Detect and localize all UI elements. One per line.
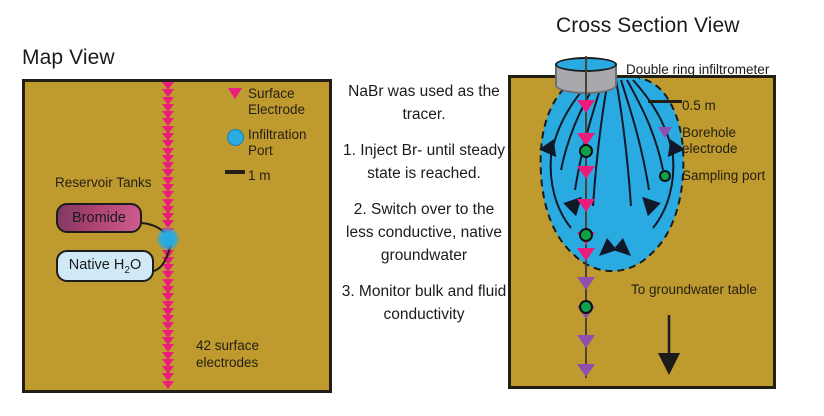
instructions-panel: NaBr was used as the tracer. 1. Inject B… <box>340 80 508 326</box>
borehole-line <box>585 56 587 378</box>
double-ring-infiltrometer-label: Double ring infiltrometer <box>626 62 769 77</box>
to-groundwater-table-label: To groundwater table <box>629 281 759 299</box>
legend-label-sampling-port: Sampling port <box>682 168 765 184</box>
scale-bar-icon <box>648 98 682 103</box>
legend-label-scale-1m: 1 m <box>248 168 271 184</box>
surface-electrode-count-label: 42 surface electrodes <box>196 337 306 371</box>
tank-native-label: Native H2O <box>69 257 141 276</box>
infiltration-port-icon <box>222 127 248 146</box>
map-view-legend: Surface Electrode Infiltration Port 1 m <box>222 86 328 193</box>
borehole-electrode-icon <box>648 125 682 138</box>
legend-row-sampling-port: Sampling port <box>648 168 776 184</box>
instructions-step-3: 3. Monitor bulk and fluid conductivity <box>340 280 508 326</box>
legend-label-surface-electrode: Surface Electrode <box>248 86 328 118</box>
instructions-step-1: 1. Inject Br- until steady state is reac… <box>340 139 508 185</box>
legend-row-borehole-electrode: Borehole electrode <box>648 125 776 157</box>
legend-label-borehole-electrode: Borehole electrode <box>682 125 776 157</box>
infiltration-port-marker <box>157 228 179 250</box>
sampling-port-icon <box>648 168 682 182</box>
instructions-intro: NaBr was used as the tracer. <box>340 80 508 126</box>
groundwater-direction-arrow <box>655 315 683 377</box>
cross-section-title: Cross Section View <box>556 14 740 38</box>
instructions-step-2: 2. Switch over to the less conductive, n… <box>340 198 508 267</box>
legend-row-scale-1m: 1 m <box>222 168 328 184</box>
legend-row-infiltration-port: Infiltration Port <box>222 127 328 159</box>
cross-section-legend: 0.5 m Borehole electrode Sampling port <box>648 98 776 195</box>
legend-label-infiltration-port: Infiltration Port <box>248 127 328 159</box>
surface-electrode-icon <box>222 86 248 99</box>
tank-bromide-label: Bromide <box>72 210 126 226</box>
surface-electrode-marker <box>162 381 174 389</box>
map-view-title: Map View <box>22 46 115 70</box>
legend-row-surface-electrode: Surface Electrode <box>222 86 328 118</box>
scale-bar-icon <box>222 168 248 174</box>
reservoir-tank-bromide: Bromide <box>56 203 142 233</box>
legend-row-scale-half-m: 0.5 m <box>648 98 776 114</box>
reservoir-tanks-label: Reservoir Tanks <box>55 175 152 190</box>
legend-label-scale-half-m: 0.5 m <box>682 98 716 114</box>
